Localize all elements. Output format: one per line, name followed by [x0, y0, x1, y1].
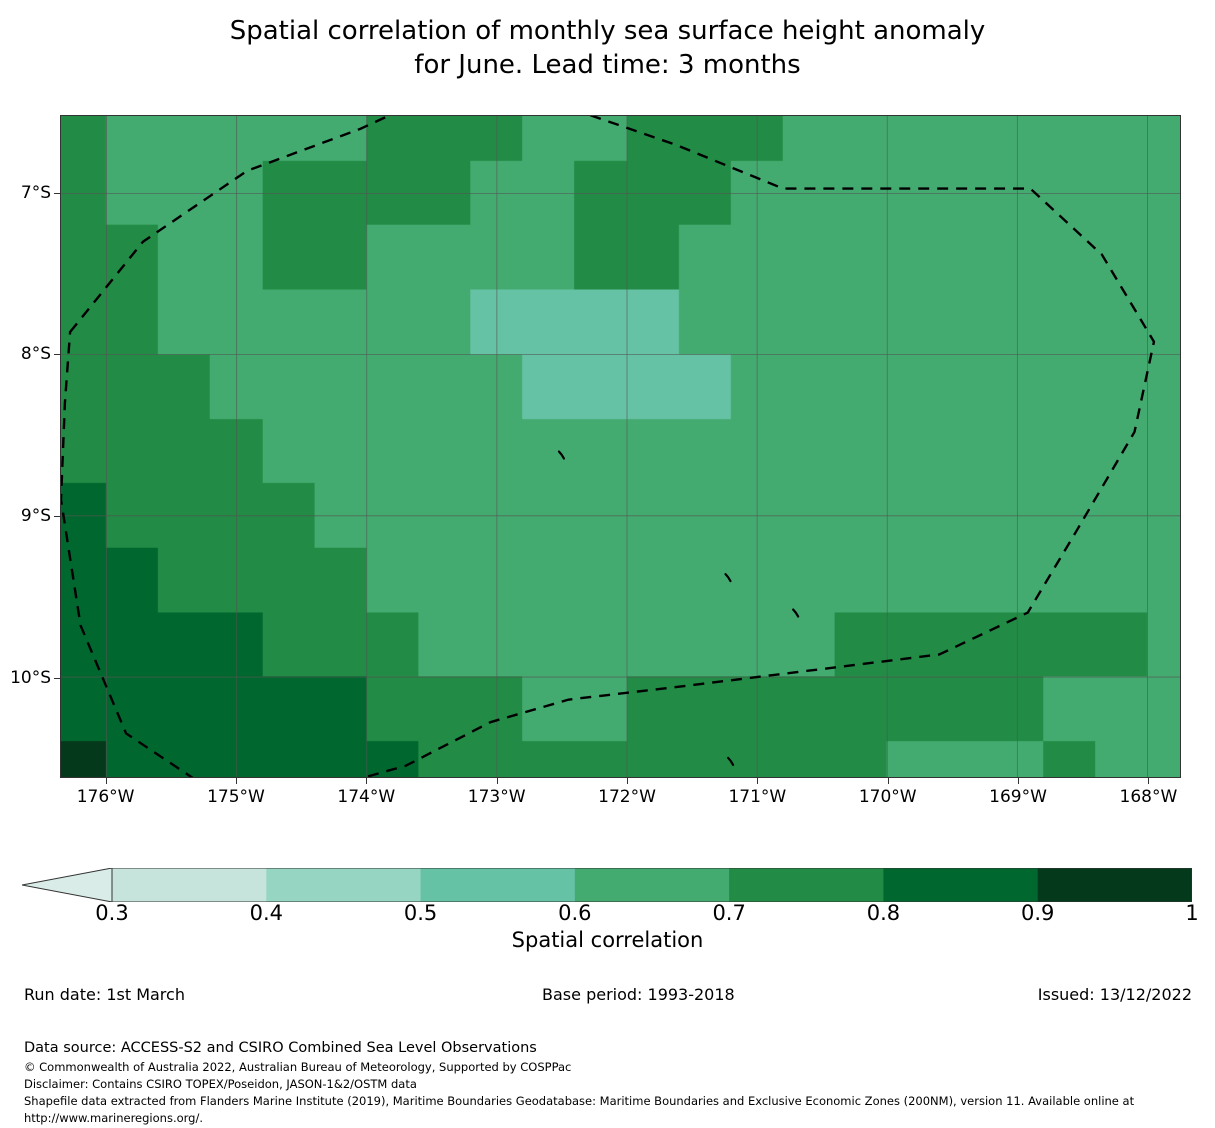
x-tick-label: 171°W	[728, 787, 786, 807]
map-plot-area	[60, 115, 1181, 778]
colorbar-tick-label: 0.9	[1021, 901, 1054, 925]
x-tick-label: 175°W	[207, 787, 265, 807]
x-tick-mark	[627, 778, 628, 784]
x-tick-mark	[236, 778, 237, 784]
colorbar-gradient	[22, 868, 1192, 902]
colorbar-tick-label: 0.3	[95, 901, 128, 925]
colorbar-tick-label: 0.5	[404, 901, 437, 925]
y-tick-mark	[54, 193, 60, 194]
x-tick-label: 172°W	[598, 787, 656, 807]
colorbar-tick-label: 0.6	[558, 901, 591, 925]
credit-shapefile-line2: http://www.marineregions.org/.	[24, 1110, 1204, 1127]
x-tick-label: 173°W	[468, 787, 526, 807]
y-tick-label: 7°S	[21, 183, 51, 203]
colorbar-tick-label: 1	[1185, 901, 1198, 925]
base-period: Base period: 1993-2018	[542, 985, 735, 1004]
y-tick-label: 9°S	[21, 506, 51, 526]
x-tick-mark	[497, 778, 498, 784]
x-tick-label: 170°W	[859, 787, 917, 807]
colorbar-tick-label: 0.7	[712, 901, 745, 925]
y-tick-label: 8°S	[21, 344, 51, 364]
x-tick-label: 176°W	[77, 787, 135, 807]
x-tick-mark	[888, 778, 889, 784]
colorbar-tick-label: 0.4	[250, 901, 283, 925]
credits-block: Data source: ACCESS-S2 and CSIRO Combine…	[24, 1039, 1204, 1128]
y-tick-mark	[54, 354, 60, 355]
credit-copyright: © Commonwealth of Australia 2022, Austra…	[24, 1059, 1204, 1076]
x-tick-mark	[1018, 778, 1019, 784]
x-tick-label: 168°W	[1120, 787, 1178, 807]
colorbar-tick-label: 0.8	[867, 901, 900, 925]
y-tick-label: 10°S	[10, 668, 51, 688]
x-tick-mark	[366, 778, 367, 784]
x-tick-label: 174°W	[337, 787, 395, 807]
y-tick-mark	[54, 678, 60, 679]
credit-disclaimer: Disclaimer: Contains CSIRO TOPEX/Poseido…	[24, 1076, 1204, 1093]
spatial-correlation-heatmap	[61, 116, 1180, 777]
colorbar-label: Spatial correlation	[0, 928, 1215, 952]
credit-shapefile-line1: Shapefile data extracted from Flanders M…	[24, 1093, 1204, 1110]
y-tick-mark	[54, 516, 60, 517]
colorbar	[22, 868, 1192, 902]
x-tick-label: 169°W	[989, 787, 1047, 807]
issued-date: Issued: 13/12/2022	[1038, 985, 1192, 1004]
x-tick-mark	[106, 778, 107, 784]
x-tick-mark	[1148, 778, 1149, 784]
page-title: Spatial correlation of monthly sea surfa…	[0, 14, 1215, 83]
credit-data-source: Data source: ACCESS-S2 and CSIRO Combine…	[24, 1039, 1204, 1059]
run-date: Run date: 1st March	[24, 985, 185, 1004]
x-tick-mark	[757, 778, 758, 784]
metadata-row: Run date: 1st March Base period: 1993-20…	[24, 985, 1192, 1004]
